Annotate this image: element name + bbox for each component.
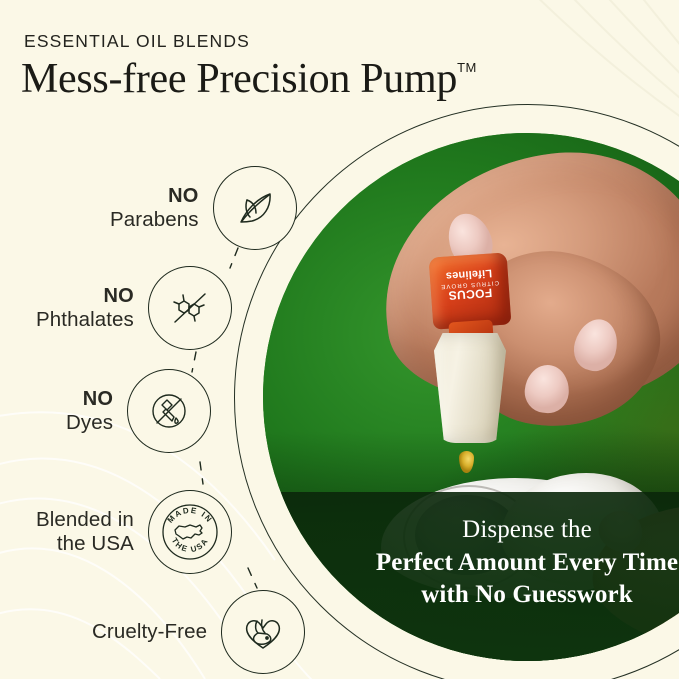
caption-text: Dispense the Perfect Amount Every Time w… — [263, 514, 679, 612]
feature-label: NO Phthalates — [36, 285, 134, 332]
leaf-icon[interactable] — [213, 166, 297, 250]
feature-name-line2: the USA — [36, 532, 134, 556]
made-in-usa-badge-icon[interactable]: MADE IN THE USA — [148, 490, 232, 574]
feature-no-phthalates[interactable]: NO Phthalates — [36, 266, 232, 350]
caption-line-2: Perfect Amount Every Time — [285, 547, 679, 580]
feature-name: Phthalates — [36, 308, 134, 332]
trademark-mark: TM — [457, 60, 477, 75]
feature-no-parabens[interactable]: NO Parabens — [110, 166, 297, 250]
svg-text:THE USA: THE USA — [170, 536, 211, 554]
feature-prefix: NO — [66, 388, 113, 411]
eyebrow-text: ESSENTIAL OIL BLENDS — [24, 31, 250, 52]
feature-label: Cruelty-Free — [92, 620, 207, 644]
badge-top-text: MADE IN — [166, 506, 215, 525]
svg-text:MADE IN: MADE IN — [166, 506, 215, 525]
precision-pump — [434, 333, 506, 443]
feature-blended-in-usa[interactable]: Blended in the USA MADE IN THE USA — [36, 490, 232, 574]
product-infographic: ESSENTIAL OIL BLENDS Mess-free Precision… — [0, 0, 679, 679]
no-molecule-icon[interactable] — [148, 266, 232, 350]
bottle-label: FOCUS CITRUS GROVE Lifelines — [429, 264, 509, 304]
badge-bottom-text: THE USA — [170, 536, 211, 554]
feature-name: Parabens — [110, 208, 199, 232]
feature-label: NO Dyes — [66, 388, 113, 435]
feature-no-dyes[interactable]: NO Dyes — [66, 369, 211, 453]
bunny-heart-icon[interactable] — [221, 590, 305, 674]
caption-line-1: Dispense the — [285, 514, 679, 547]
feature-label: NO Parabens — [110, 185, 199, 232]
headline-text: Mess-free Precision Pump — [21, 56, 457, 102]
feature-cruelty-free[interactable]: Cruelty-Free — [92, 590, 305, 674]
oil-bottle: FOCUS CITRUS GROVE Lifelines — [429, 252, 512, 329]
product-photo: FOCUS CITRUS GROVE Lifelines Dispense th… — [263, 133, 679, 661]
page-title: Mess-free Precision PumpTM — [21, 55, 477, 103]
feature-label: Blended in the USA — [36, 508, 134, 556]
caption-line-3: with No Guesswork — [285, 579, 679, 612]
feature-prefix: NO — [36, 285, 134, 308]
no-dropper-icon[interactable] — [127, 369, 211, 453]
feature-name-line1: Blended in — [36, 508, 134, 532]
feature-name-line1: Cruelty-Free — [92, 620, 207, 644]
feature-prefix: NO — [110, 185, 199, 208]
feature-name: Dyes — [66, 411, 113, 435]
